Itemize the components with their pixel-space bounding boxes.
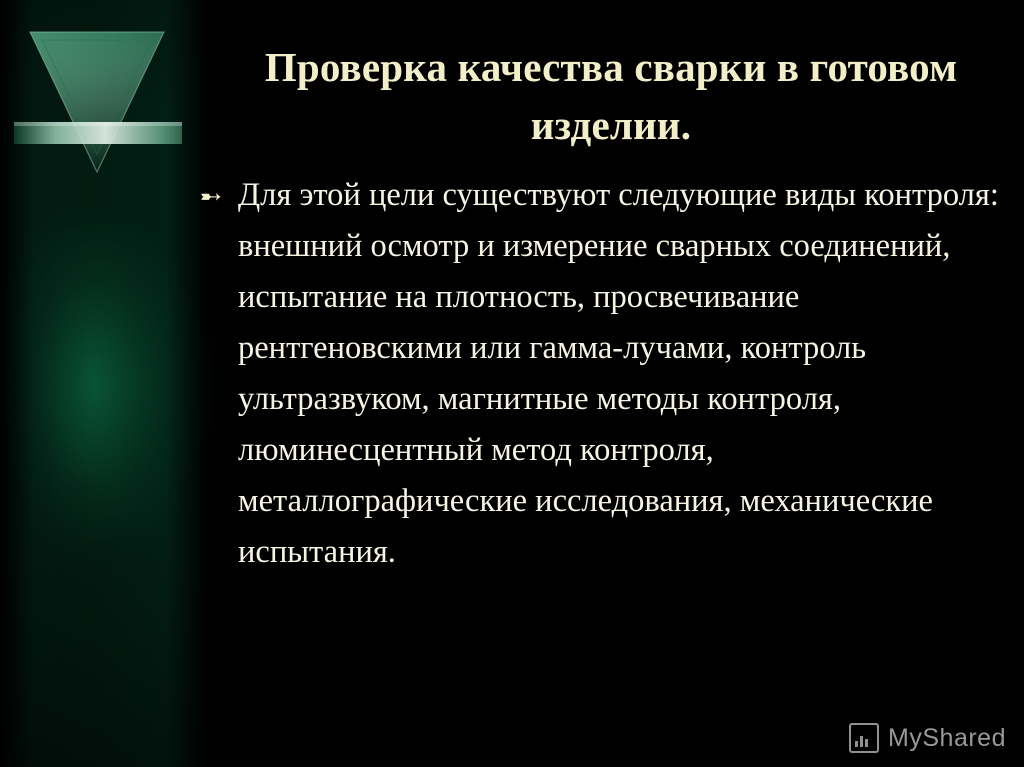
page-title: Проверка качества сварки в готовом издел…: [214, 38, 1008, 154]
list-item: ➸ Для этой цели существуют следующие вид…: [200, 170, 1000, 578]
watermark: MyShared: [849, 723, 1006, 753]
arrow-bullet-icon: ➸: [200, 184, 226, 210]
presentation-slide: Проверка качества сварки в готовом издел…: [0, 0, 1024, 767]
triangle-logo: [14, 26, 182, 186]
body-content: ➸ Для этой цели существуют следующие вид…: [200, 170, 1000, 578]
body-paragraph: Для этой цели существуют следующие виды …: [238, 170, 1000, 578]
watermark-label: MyShared: [888, 724, 1006, 753]
chart-bars-icon: [849, 723, 879, 753]
